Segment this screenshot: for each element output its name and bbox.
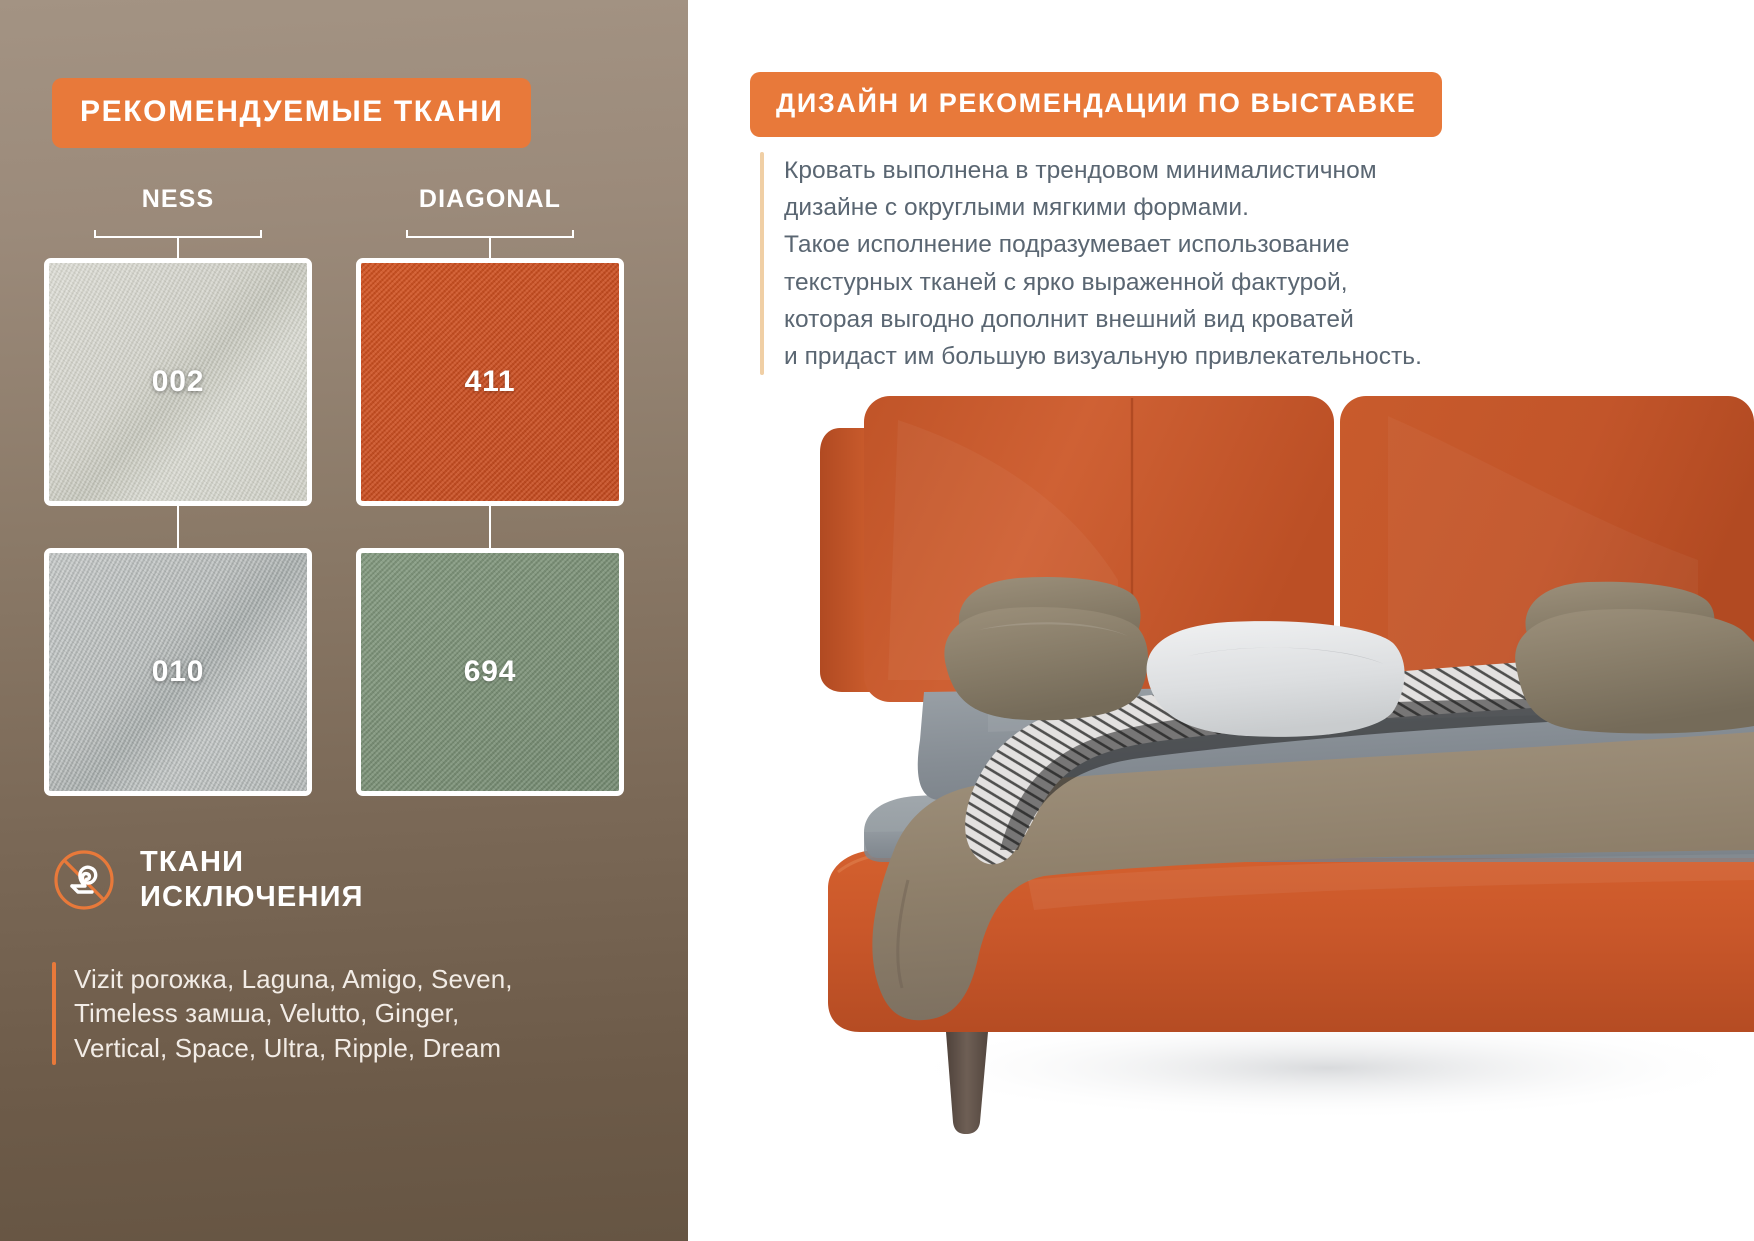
fabric-swatch-ness-002[interactable]: 002 [44, 258, 312, 506]
swatch-code-label: 694 [464, 655, 516, 689]
bracket-diagonal [356, 220, 624, 258]
swatch-wrap-ness-010: 010 [44, 548, 312, 796]
description-line-4: текстурных тканей с ярко выраженной факт… [784, 264, 1422, 301]
bed-image [688, 380, 1754, 1241]
swatch-wrap-diagonal-411: 411 [356, 258, 624, 506]
collection-label-ness: NESS [44, 185, 312, 214]
poster-page: РЕКОМЕНДУЕМЫЕ ТКАНИ NESS DIAGONAL [0, 0, 1754, 1241]
bracket-row [40, 220, 640, 258]
description-line-5: которая выгодно дополнит внешний вид кро… [784, 301, 1422, 338]
description-block: Кровать выполнена в трендовом минималист… [760, 152, 1422, 375]
exception-line-1: Vizit рогожка, Laguna, Amigo, Seven, [74, 962, 513, 997]
bracket-stem [489, 236, 491, 260]
no-fabric-roll-icon [52, 848, 116, 912]
pillow-front-white [1147, 621, 1405, 737]
bracket-ness [44, 220, 312, 258]
swatch-code-label: 002 [152, 365, 204, 399]
exception-line-2: Timeless замша, Velutto, Ginger, [74, 996, 513, 1031]
swatch-wrap-ness-002: 002 [44, 258, 312, 506]
description-text: Кровать выполнена в трендовом минималист… [784, 152, 1422, 375]
description-line-2: дизайне с округлыми мягкими формами. [784, 189, 1422, 226]
bracket-right-tick [260, 230, 262, 238]
exception-fabrics-section: ТКАНИ ИСКЛЮЧЕНИЯ Vizit рогожка, Laguna, … [52, 845, 652, 1065]
connector-row [40, 506, 640, 548]
connector-stem [177, 506, 179, 548]
fabric-swatch-ness-010[interactable]: 010 [44, 548, 312, 796]
swatch-wrap-diagonal-694: 694 [356, 548, 624, 796]
swatch-code-label: 010 [152, 655, 204, 689]
fabric-collection-labels: NESS DIAGONAL [40, 185, 640, 214]
exception-list: Vizit рогожка, Laguna, Amigo, Seven, Tim… [52, 962, 652, 1066]
right-panel: ДИЗАЙН И РЕКОМЕНДАЦИИ ПО ВЫСТАВКЕ Кроват… [688, 0, 1754, 1241]
left-panel: РЕКОМЕНДУЕМЫЕ ТКАНИ NESS DIAGONAL [0, 0, 688, 1241]
exception-accent-bar [52, 962, 56, 1066]
description-line-6: и придаст им большую визуальную привлека… [784, 338, 1422, 375]
connector-stem [489, 506, 491, 548]
bracket-stem [177, 236, 179, 260]
exception-title: ТКАНИ ИСКЛЮЧЕНИЯ [140, 845, 364, 916]
exception-title-line2: ИСКЛЮЧЕНИЯ [140, 880, 364, 915]
collection-label-diagonal: DIAGONAL [356, 185, 624, 214]
swatch-code-label: 411 [465, 365, 516, 399]
swatch-row-bottom: 010 694 [40, 548, 640, 796]
description-line-1: Кровать выполнена в трендовом минималист… [784, 152, 1422, 189]
connector-diagonal [356, 506, 624, 548]
exception-list-text: Vizit рогожка, Laguna, Amigo, Seven, Tim… [74, 962, 513, 1066]
exception-line-3: Vertical, Space, Ultra, Ripple, Dream [74, 1031, 513, 1066]
exception-title-line1: ТКАНИ [140, 845, 364, 880]
bed-leg [946, 1032, 988, 1134]
description-line-3: Такое исполнение подразумевает использов… [784, 226, 1422, 263]
fabric-swatch-diagonal-411[interactable]: 411 [356, 258, 624, 506]
swatch-row-top: 002 411 [40, 258, 640, 506]
recommended-fabrics-badge: РЕКОМЕНДУЕМЫЕ ТКАНИ [52, 78, 531, 148]
design-recommendations-badge: ДИЗАЙН И РЕКОМЕНДАЦИИ ПО ВЫСТАВКЕ [750, 72, 1442, 137]
fabric-grid: NESS DIAGONAL [40, 185, 640, 796]
pillow-front-right [1515, 609, 1754, 733]
description-accent-bar [760, 152, 764, 375]
connector-ness [44, 506, 312, 548]
fabric-swatch-diagonal-694[interactable]: 694 [356, 548, 624, 796]
bracket-right-tick [572, 230, 574, 238]
exception-header: ТКАНИ ИСКЛЮЧЕНИЯ [52, 845, 652, 916]
